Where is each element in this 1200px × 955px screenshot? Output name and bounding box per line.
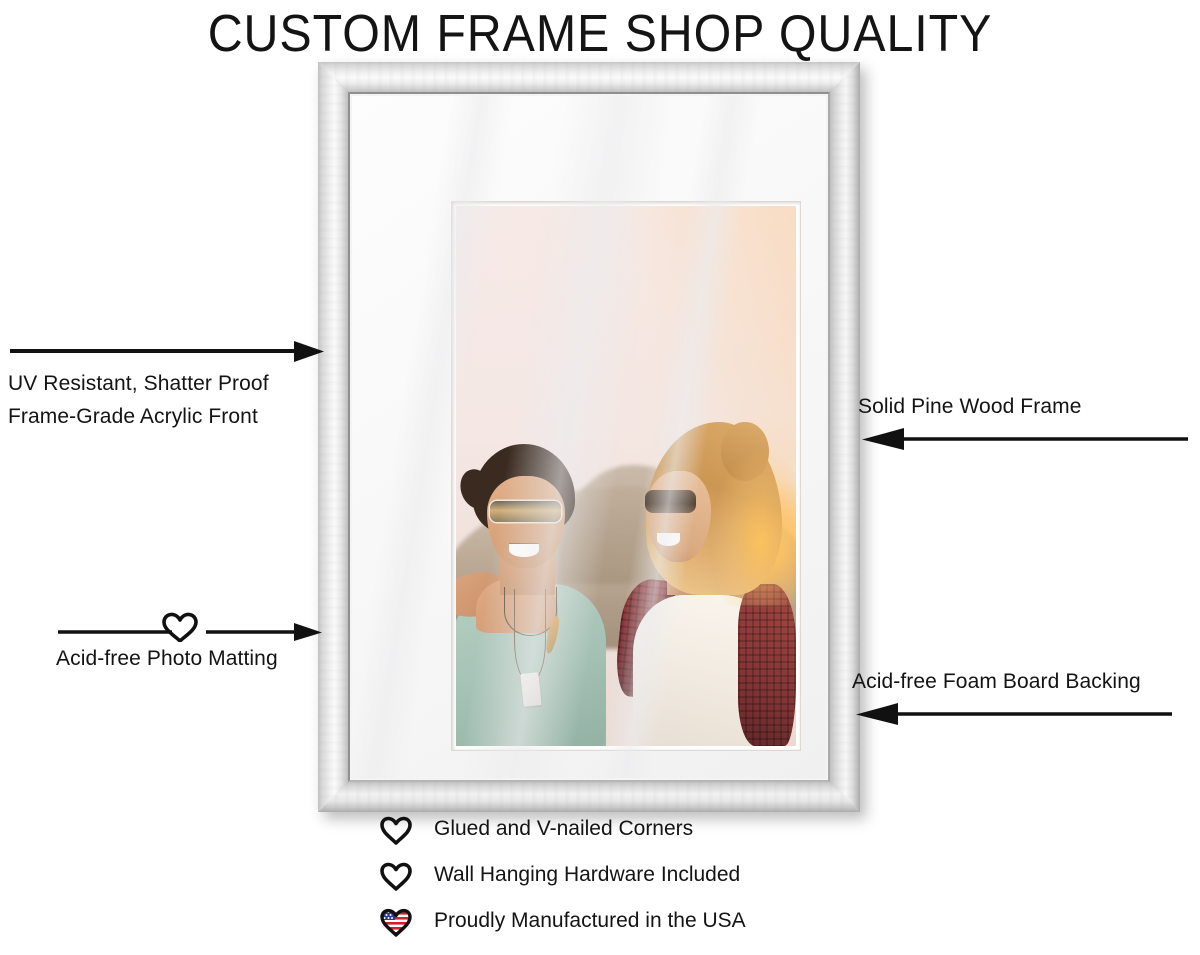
annotation-pine-frame: Solid Pine Wood Frame (858, 394, 1190, 451)
photo-mat (352, 96, 826, 778)
heart-outline-icon (376, 857, 416, 893)
photo-rim-light (708, 444, 796, 606)
page-title: CUSTOM FRAME SHOP QUALITY (42, 4, 1158, 64)
mat-opening (452, 202, 800, 750)
photo-man-smile (509, 543, 540, 557)
picture-frame (318, 62, 860, 812)
annotation-acrylic-front: UV Resistant, Shatter Proof Frame-Grade … (8, 338, 326, 430)
annotation-acrylic-line-1: UV Resistant, Shatter Proof (8, 370, 326, 397)
photo-man-dogtag (521, 672, 542, 707)
list-item: Glued and V-nailed Corners (376, 806, 746, 852)
photo-woman-smile (657, 533, 681, 546)
heart-outline-icon (164, 614, 196, 641)
annotation-acrylic-line-2: Frame-Grade Acrylic Front (8, 403, 326, 430)
feature-label: Wall Hanging Hardware Included (434, 863, 740, 887)
feature-list: Glued and V-nailed Corners Wall Hanging … (376, 806, 746, 944)
framed-photograph (456, 206, 796, 746)
heart-outline-icon (376, 811, 416, 847)
photo-woman-sunglasses (645, 490, 696, 513)
arrow-right-heart-icon (56, 608, 324, 642)
photo-man-necklace-chain (514, 589, 547, 682)
feature-label: Proudly Manufactured in the USA (434, 909, 746, 933)
frame-moulding-left (318, 62, 350, 812)
list-item: Proudly Manufactured in the USA (376, 898, 746, 944)
annotation-photo-matting: Acid-free Photo Matting (56, 608, 324, 672)
heart-usa-flag-icon (376, 903, 416, 939)
photo-man-sunglasses (490, 501, 561, 523)
feature-label: Glued and V-nailed Corners (434, 817, 693, 841)
arrow-right-icon (8, 338, 326, 364)
arrow-left-icon (852, 700, 1188, 726)
annotation-backing-label: Acid-free Foam Board Backing (852, 669, 1188, 695)
frame-moulding-top (318, 62, 860, 94)
arrow-left-icon (858, 425, 1190, 451)
photo-woman-plaid-right (738, 584, 796, 746)
annotation-pine-label: Solid Pine Wood Frame (858, 394, 1190, 420)
annotation-matting-label: Acid-free Photo Matting (56, 646, 324, 672)
annotation-foam-backing: Acid-free Foam Board Backing (852, 669, 1188, 726)
infographic-canvas: CUSTOM FRAME SHOP QUALITY (0, 0, 1200, 955)
list-item: Wall Hanging Hardware Included (376, 852, 746, 898)
